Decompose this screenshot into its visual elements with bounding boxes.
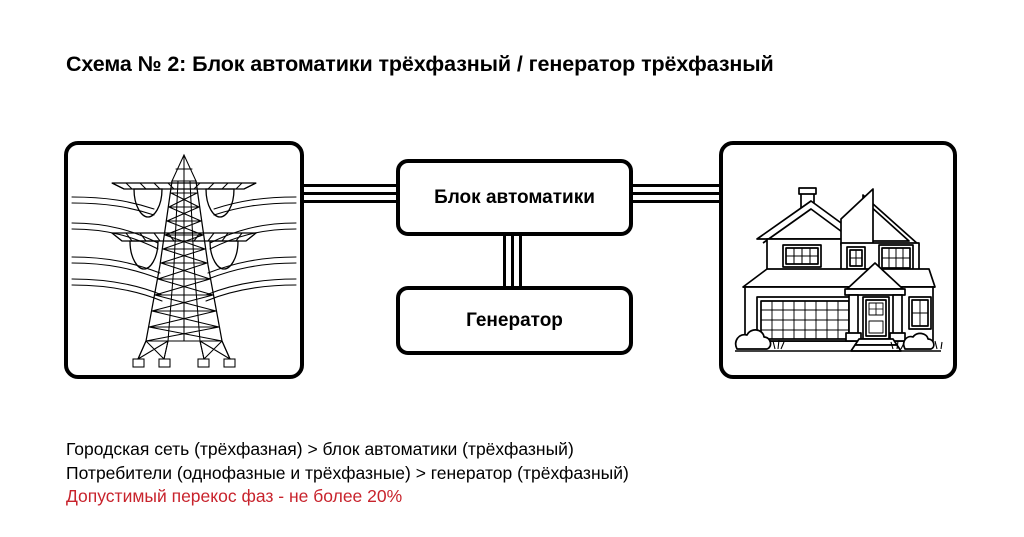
- bus-grid-phase-2: [301, 192, 399, 195]
- bus-generator-phase-1: [503, 233, 506, 289]
- caption-line-1: Городская сеть (трёхфазная) > блок автом…: [66, 438, 629, 462]
- bus-house-phase-1: [630, 184, 722, 187]
- bus-house-phase-3: [630, 200, 722, 203]
- grid-source-panel: [64, 141, 304, 379]
- bus-generator-phase-3: [519, 233, 522, 289]
- generator-node: Генератор: [396, 286, 633, 355]
- house-icon: [723, 145, 953, 375]
- caption-warning-line: Допустимый перекос фаз - не более 20%: [66, 485, 629, 509]
- bus-house-phase-2: [630, 192, 722, 195]
- consumer-house-panel: [719, 141, 957, 379]
- transmission-tower-icon: [68, 145, 300, 375]
- page-title: Схема № 2: Блок автоматики трёхфазный / …: [66, 52, 774, 78]
- caption-block: Городская сеть (трёхфазная) > блок автом…: [66, 438, 629, 509]
- bus-grid-phase-1: [301, 184, 399, 187]
- automation-block-node: Блок автоматики: [396, 159, 633, 236]
- bus-grid-phase-3: [301, 200, 399, 203]
- bus-generator-phase-2: [511, 233, 514, 289]
- caption-line-2: Потребители (однофазные и трёхфазные) > …: [66, 462, 629, 486]
